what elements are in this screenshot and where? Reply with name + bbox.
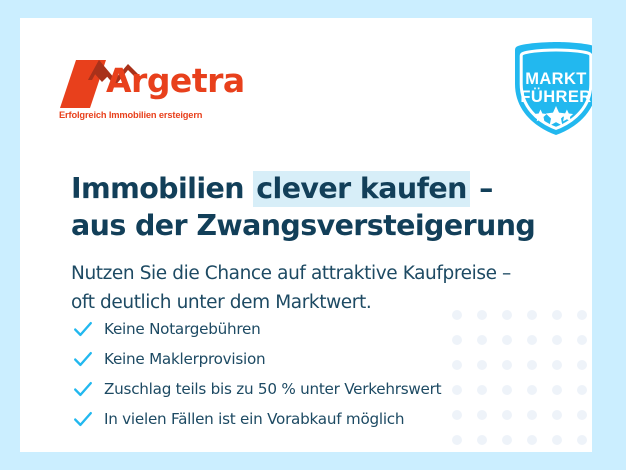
- dot: [552, 335, 562, 345]
- benefits-list: Keine Notargebühren Keine Maklerprovisio…: [72, 314, 542, 434]
- dot: [577, 335, 587, 345]
- argetra-logo[interactable]: Argetra Erfolgreich Immobilien ersteiger…: [58, 46, 238, 126]
- dot: [552, 410, 562, 420]
- badge-line1: MARKT: [525, 70, 587, 88]
- banner-card: Argetra Erfolgreich Immobilien ersteiger…: [20, 18, 592, 452]
- headline-highlight: clever kaufen: [253, 171, 470, 207]
- page-title: Immobilien clever kaufen – aus der Zwang…: [71, 170, 541, 244]
- headline-text-after: –: [470, 172, 493, 205]
- list-item-label: In vielen Fällen ist ein Vorabkauf mögli…: [104, 410, 404, 428]
- market-leader-badge: MARKT FÜHRER: [504, 36, 592, 140]
- dot: [577, 385, 587, 395]
- subheading-line-2: oft deutlich unter dem Marktwert.: [71, 288, 551, 317]
- list-item-label: Zuschlag teils bis zu 50 % unter Verkehr…: [104, 380, 441, 398]
- badge-line2: FÜHRER: [520, 87, 591, 106]
- dot: [527, 435, 537, 445]
- headline-line-2: aus der Zwangsversteigerung: [71, 209, 535, 242]
- list-item-label: Keine Maklerprovision: [104, 350, 265, 368]
- check-icon: [72, 348, 94, 370]
- logo-tagline: Erfolgreich Immobilien ersteigern: [59, 110, 202, 120]
- dot: [502, 435, 512, 445]
- dot: [552, 360, 562, 370]
- headline-line-1: Immobilien clever kaufen –: [71, 171, 493, 207]
- headline-text-before: Immobilien: [71, 172, 253, 205]
- list-item: Keine Notargebühren: [72, 314, 542, 344]
- dot: [552, 385, 562, 395]
- dot: [477, 435, 487, 445]
- check-icon: [72, 378, 94, 400]
- check-icon: [72, 318, 94, 340]
- list-item: Keine Maklerprovision: [72, 344, 542, 374]
- list-item-label: Keine Notargebühren: [104, 320, 260, 338]
- subheading-line-1: Nutzen Sie die Chance auf attraktive Kau…: [71, 259, 551, 288]
- dot: [577, 410, 587, 420]
- list-item: Zuschlag teils bis zu 50 % unter Verkehr…: [72, 374, 542, 404]
- check-icon: [72, 408, 94, 430]
- subheading: Nutzen Sie die Chance auf attraktive Kau…: [71, 259, 551, 317]
- dot: [552, 435, 562, 445]
- logo-wordmark: Argetra: [106, 64, 245, 97]
- dot: [577, 435, 587, 445]
- shield-badge-icon: MARKT FÜHRER: [504, 36, 592, 140]
- promo-banner: Argetra Erfolgreich Immobilien ersteiger…: [0, 0, 626, 470]
- dot: [577, 360, 587, 370]
- dot: [577, 310, 587, 320]
- dot: [552, 310, 562, 320]
- dot: [452, 435, 462, 445]
- list-item: In vielen Fällen ist ein Vorabkauf mögli…: [72, 404, 542, 434]
